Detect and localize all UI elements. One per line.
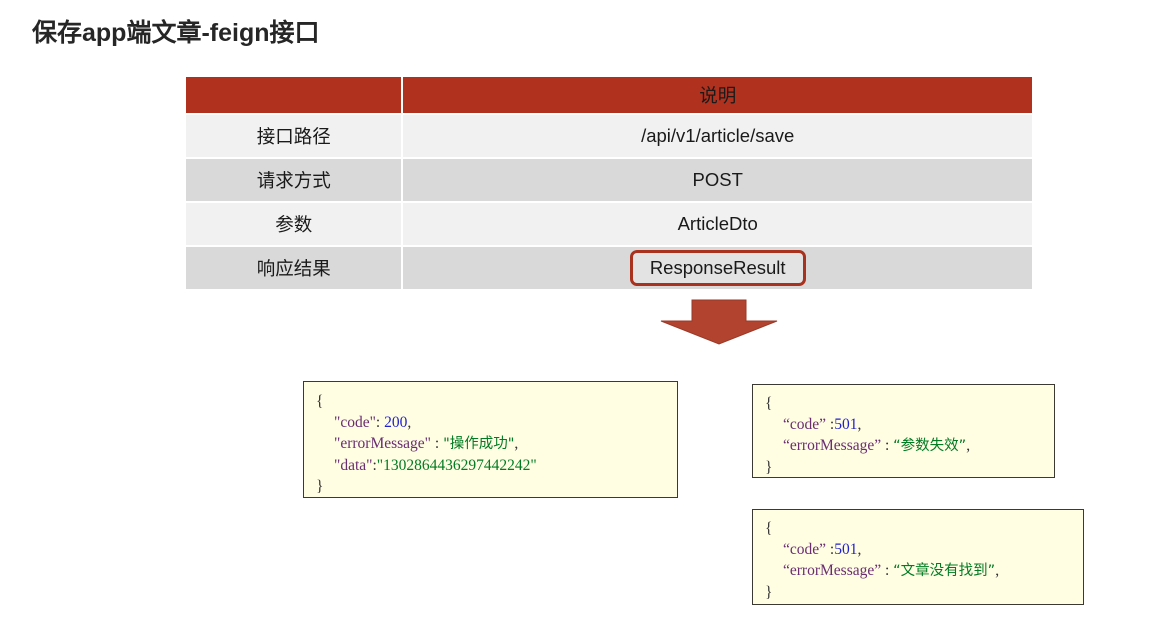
row-value-interface-path: /api/v1/article/save bbox=[403, 115, 1032, 159]
page-title: 保存app端文章-feign接口 bbox=[32, 13, 320, 49]
code-line-code: "code": 200, bbox=[316, 412, 665, 433]
brace-open: { bbox=[765, 393, 1042, 414]
brace-open: { bbox=[765, 518, 1071, 539]
table-row: 接口路径 /api/v1/article/save bbox=[186, 115, 1032, 159]
api-spec-table: 说明 接口路径 /api/v1/article/save 请求方式 POST 参… bbox=[186, 77, 1032, 289]
row-label-interface-path: 接口路径 bbox=[186, 115, 403, 159]
code-line-errormessage: “errorMessage” : “参数失效”, bbox=[765, 435, 1042, 457]
code-line-data: "data":"1302864436297442242" bbox=[316, 455, 665, 476]
code-line-errormessage: “errorMessage” : “文章没有找到”, bbox=[765, 560, 1071, 582]
table-header-row: 说明 bbox=[186, 77, 1032, 115]
invalid-param-response-code-block: {“code” :501,“errorMessage” : “参数失效”,} bbox=[752, 384, 1055, 478]
article-not-found-response-code-block: {“code” :501,“errorMessage” : “文章没有找到”,} bbox=[752, 509, 1084, 605]
code-line-errormessage: "errorMessage" : "操作成功", bbox=[316, 433, 665, 455]
row-value-response-result-cell: ResponseResult bbox=[403, 247, 1032, 289]
arrow-down-icon bbox=[660, 298, 778, 346]
table-header-description: 说明 bbox=[403, 77, 1032, 115]
code-line-code: “code” :501, bbox=[765, 414, 1042, 435]
brace-close: } bbox=[316, 476, 665, 497]
table-row: 响应结果 ResponseResult bbox=[186, 247, 1032, 289]
table-row: 请求方式 POST bbox=[186, 159, 1032, 203]
response-result-highlight-chip: ResponseResult bbox=[630, 250, 806, 286]
row-label-response-result: 响应结果 bbox=[186, 247, 403, 289]
brace-close: } bbox=[765, 582, 1071, 603]
table-header-blank bbox=[186, 77, 403, 115]
brace-open: { bbox=[316, 391, 665, 412]
brace-close: } bbox=[765, 457, 1042, 478]
row-label-request-method: 请求方式 bbox=[186, 159, 403, 203]
row-label-parameter: 参数 bbox=[186, 203, 403, 247]
code-line-code: “code” :501, bbox=[765, 539, 1071, 560]
table-row: 参数 ArticleDto bbox=[186, 203, 1032, 247]
row-value-request-method: POST bbox=[403, 159, 1032, 203]
success-response-code-block: {"code": 200,"errorMessage" : "操作成功","da… bbox=[303, 381, 678, 498]
row-value-parameter: ArticleDto bbox=[403, 203, 1032, 247]
